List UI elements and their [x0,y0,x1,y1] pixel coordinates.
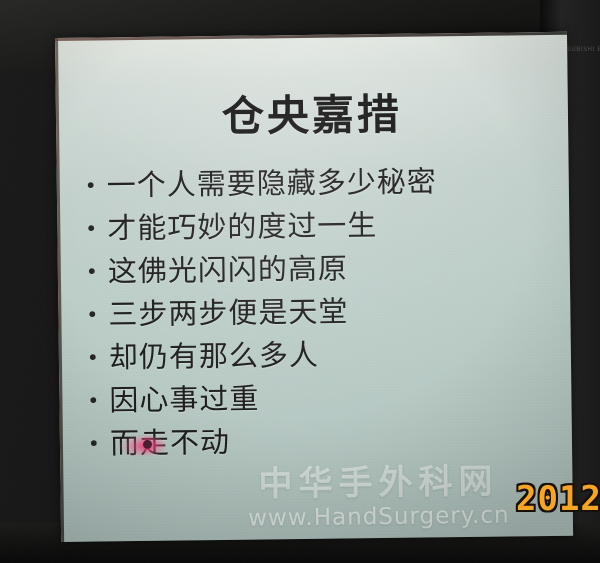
list-item: • 因心事过重 [87,375,527,423]
list-item-label: 而走不动 [110,422,230,463]
slide-bullet-list: • 一个人需要隐藏多少秘密 • 才能巧妙的度过一生 • 这佛光闪闪的高原 • 三… [85,160,529,466]
bullet-point-icon: • [85,208,107,248]
list-item: • 而走不动 [88,418,528,466]
list-item: • 才能巧妙的度过一生 [85,203,525,251]
bullet-point-icon: • [87,337,109,377]
list-item: • 这佛光闪闪的高原 [86,246,526,294]
list-item-label: 一个人需要隐藏多少秘密 [107,161,437,205]
list-item: • 一个人需要隐藏多少秘密 [85,160,525,208]
list-item-label: 三步两步便是天堂 [108,291,348,334]
presentation-slide: 仓央嘉措 • 一个人需要隐藏多少秘密 • 才能巧妙的度过一生 • 这佛光闪闪的高… [55,32,573,542]
projection-screen: 仓央嘉措 • 一个人需要隐藏多少秘密 • 才能巧妙的度过一生 • 这佛光闪闪的高… [55,32,573,542]
bullet-point-icon: • [86,294,108,334]
list-item: • 三步两步便是天堂 [86,289,526,337]
photograph-of-presentation-screen: MITSUBISHI ELECTRIC 仓央嘉措 • 一个人需要隐藏多少秘密 •… [0,0,600,563]
bullet-point-icon: • [85,165,107,205]
bullet-point-icon: • [87,380,109,420]
bullet-point-icon: • [86,251,108,291]
list-item-label: 因心事过重 [109,379,259,421]
slide-title: 仓央嘉措 [56,90,569,142]
list-item: • 却仍有那么多人 [87,332,527,380]
list-item-label: 却仍有那么多人 [109,335,319,378]
list-item-label: 这佛光闪闪的高原 [108,248,348,291]
camera-date-stamp: 2012 [516,480,600,518]
bullet-point-icon: • [88,423,110,463]
list-item-label: 才能巧妙的度过一生 [107,205,377,248]
